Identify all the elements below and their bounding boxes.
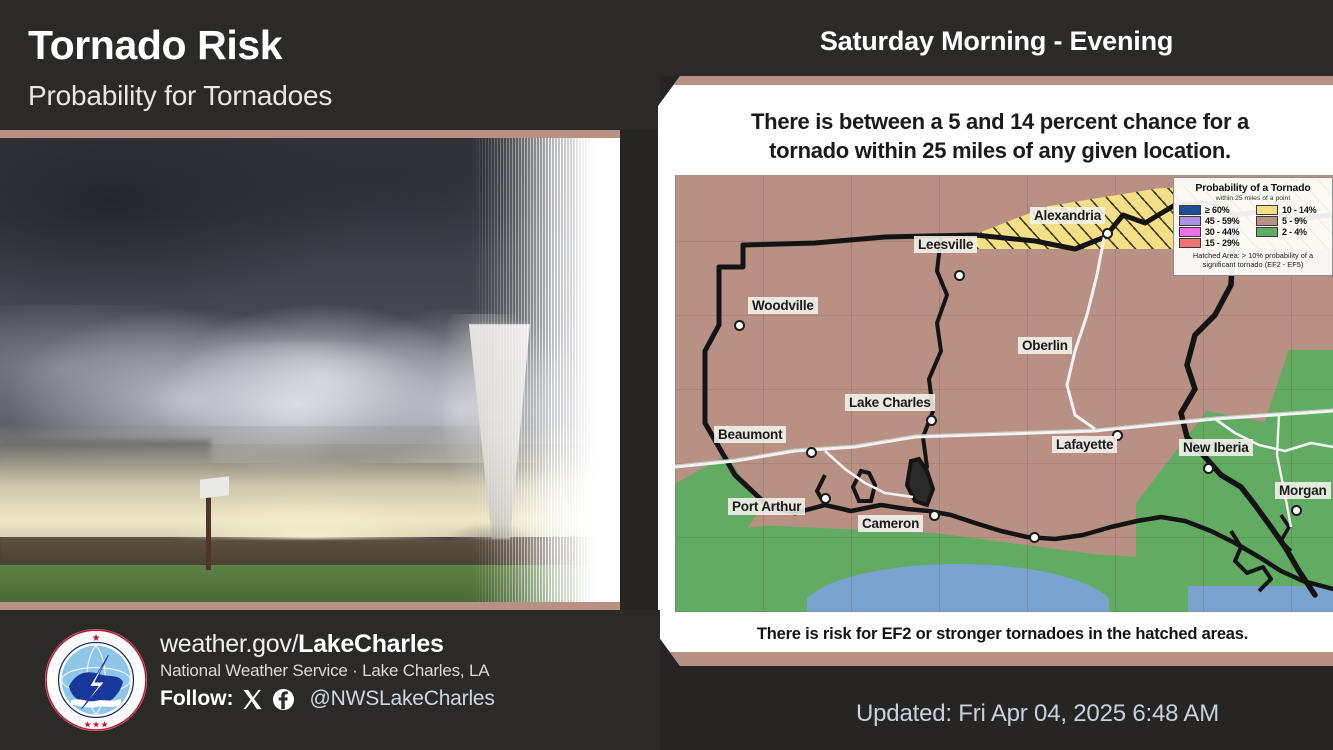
legend-label: 2 - 4% bbox=[1282, 227, 1307, 237]
legend-item: 15 - 29% bbox=[1179, 238, 1250, 248]
city-label: New Iberia bbox=[1179, 439, 1253, 456]
legend-swatch bbox=[1179, 227, 1201, 237]
social-row: Follow: @NWSLakeCharles bbox=[160, 687, 495, 711]
tornado-photo-frame bbox=[0, 130, 620, 610]
website-url[interactable]: weather.gov/LakeCharles bbox=[160, 630, 495, 659]
city-dot bbox=[806, 447, 817, 458]
page-title: Tornado Risk bbox=[28, 22, 282, 69]
page-subtitle: Probability for Tornadoes bbox=[28, 80, 332, 112]
footer-text-block: weather.gov/LakeCharles National Weather… bbox=[160, 630, 495, 711]
card-bottom-accent-bar bbox=[640, 652, 1333, 666]
legend-hatching-note: Hatched Area: > 10% probability of a sig… bbox=[1179, 251, 1327, 270]
right-header: Saturday Morning - Evening bbox=[660, 0, 1333, 76]
city-dot bbox=[1203, 463, 1214, 474]
legend-item: 45 - 59% bbox=[1179, 216, 1250, 226]
nws-seal-logo: ★ ★ ★ ★ bbox=[44, 628, 148, 732]
tornado-photo bbox=[0, 138, 620, 602]
city-dot bbox=[926, 415, 937, 426]
city-label: Alexandria bbox=[1030, 207, 1105, 224]
x-twitter-icon[interactable] bbox=[241, 688, 264, 711]
city-dot bbox=[954, 270, 965, 281]
legend-swatch bbox=[1256, 216, 1278, 226]
city-dot bbox=[734, 320, 745, 331]
legend-label: 10 - 14% bbox=[1282, 205, 1316, 215]
city-dot bbox=[1291, 505, 1302, 516]
legend-swatch bbox=[1179, 205, 1201, 215]
city-dot bbox=[820, 493, 831, 504]
legend-label: 15 - 29% bbox=[1205, 238, 1239, 248]
city-label: Woodville bbox=[748, 297, 818, 314]
url-bold: LakeCharles bbox=[298, 630, 443, 658]
legend-swatch bbox=[1179, 216, 1201, 226]
city-dot bbox=[1029, 532, 1040, 543]
legend-item: 5 - 9% bbox=[1256, 216, 1327, 226]
fence-post bbox=[206, 491, 212, 570]
svg-text:★ ★ ★: ★ ★ ★ bbox=[83, 720, 108, 729]
city-label: Lafayette bbox=[1052, 436, 1117, 453]
social-handle[interactable]: @NWSLakeCharles bbox=[309, 687, 494, 711]
map-legend: Probability of a Tornado within 25 miles… bbox=[1173, 177, 1333, 276]
facebook-icon[interactable] bbox=[272, 688, 295, 711]
legend-items: ≥ 60%10 - 14%45 - 59%5 - 9%30 - 44%2 - 4… bbox=[1179, 205, 1327, 248]
office-name: National Weather Service · Lake Charles,… bbox=[160, 661, 495, 681]
updated-timestamp: Updated: Fri Apr 04, 2025 6:48 AM bbox=[856, 700, 1219, 728]
svg-text:★: ★ bbox=[91, 632, 100, 642]
headline-line-1: There is between a 5 and 14 percent chan… bbox=[680, 108, 1320, 137]
footer: ★ ★ ★ ★ weather.gov/LakeCharles National… bbox=[0, 610, 660, 750]
city-label: Port Arthur bbox=[728, 498, 805, 515]
legend-title: Probability of a Tornado bbox=[1179, 182, 1327, 194]
city-label: Leesville bbox=[914, 236, 977, 253]
legend-label: 45 - 59% bbox=[1205, 216, 1239, 226]
photo-edge-fade bbox=[574, 138, 620, 602]
legend-label: 5 - 9% bbox=[1282, 216, 1307, 226]
legend-item: 30 - 44% bbox=[1179, 227, 1250, 237]
city-dot bbox=[929, 510, 940, 521]
legend-subtitle: within 25 miles of a point bbox=[1179, 195, 1327, 202]
city-label: Beaumont bbox=[714, 426, 786, 443]
legend-swatch bbox=[1256, 205, 1278, 215]
legend-item: ≥ 60% bbox=[1179, 205, 1250, 215]
follow-label: Follow: bbox=[160, 687, 233, 711]
city-label: Morgan bbox=[1275, 482, 1331, 499]
tornado-probability-map[interactable]: Probability of a Tornado within 25 miles… bbox=[675, 175, 1333, 612]
city-label: Lake Charles bbox=[845, 394, 935, 411]
legend-swatch bbox=[1179, 238, 1201, 248]
post-sign bbox=[200, 476, 229, 499]
map-footnote: There is risk for EF2 or stronger tornad… bbox=[680, 625, 1325, 644]
legend-item: 10 - 14% bbox=[1256, 205, 1327, 215]
card-top-accent-bar bbox=[640, 76, 1333, 85]
city-dot bbox=[1102, 228, 1113, 239]
legend-label: 30 - 44% bbox=[1205, 227, 1239, 237]
city-label: Cameron bbox=[858, 515, 923, 532]
map-card: There is between a 5 and 14 percent chan… bbox=[640, 76, 1333, 666]
left-header: Tornado Risk Probability for Tornadoes bbox=[0, 0, 660, 130]
headline: There is between a 5 and 14 percent chan… bbox=[680, 108, 1320, 165]
legend-item: 2 - 4% bbox=[1256, 227, 1327, 237]
legend-swatch bbox=[1256, 227, 1278, 237]
forecast-period-label: Saturday Morning - Evening bbox=[660, 26, 1333, 57]
city-label: Oberlin bbox=[1018, 337, 1072, 354]
headline-line-2: tornado within 25 miles of any given loc… bbox=[680, 137, 1320, 166]
legend-label: ≥ 60% bbox=[1205, 205, 1229, 215]
url-plain: weather.gov/ bbox=[160, 630, 298, 658]
